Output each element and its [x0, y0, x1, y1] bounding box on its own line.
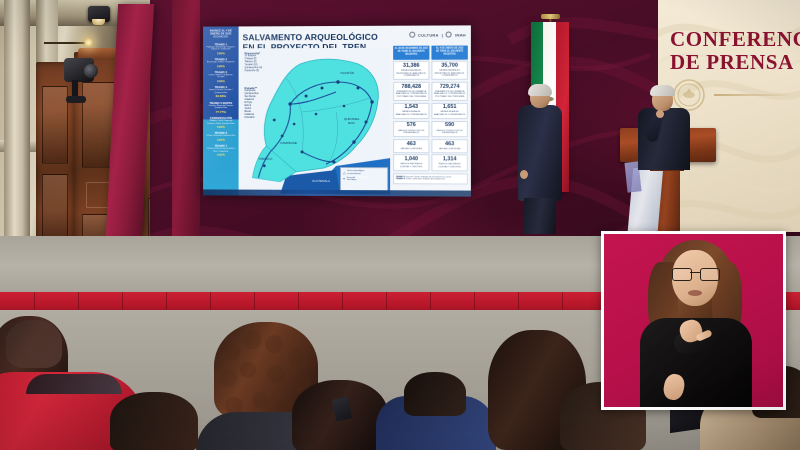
- logo-separator: |: [442, 32, 443, 37]
- suit-jacket: [638, 108, 690, 170]
- stat-value: 1,543: [395, 105, 427, 110]
- stat-value: 31,386: [395, 64, 427, 70]
- sidebar-item-tramo-1: TRAMO 1 Palenque–Escárcega Chiapas / Tab…: [205, 42, 237, 55]
- hair: [528, 84, 552, 96]
- sidebar-item-tramo-2: TRAMO 2 Escárcega–Calkiní Campeche 100%: [205, 57, 237, 68]
- sidebar-item-tramo-4: TRAMO 4 Izamal–Cancún Yucatán / Quintana…: [205, 85, 237, 98]
- stat-row-rasgos-osteologicos: 576 RASGOS OSTEOLÓGICOS PRESERVADOS 590 …: [393, 121, 468, 138]
- tramo-percent: 77.77%: [205, 110, 237, 114]
- hand: [656, 110, 664, 118]
- stat-cell-right: 463 VASIJAS COMPLETAS: [431, 139, 467, 153]
- map-legend-estado: Estado** Campeche Quintana Roo San Benit…: [245, 86, 285, 120]
- tramo-detail: Escárcega–Calkiní Campeche: [205, 61, 237, 64]
- presentation-slide: AVANCE AL 4 DE ENERO DE 2023 EXCAVACIÓN …: [203, 25, 471, 196]
- tramo-percent: 100%: [205, 64, 237, 68]
- overcoat: [518, 105, 562, 201]
- tramo-detail: TRAMO 5 SUR Playa del Carmen–Tulum Quint…: [205, 120, 237, 125]
- stat-caption: VASIJAS COMPLETAS: [433, 148, 465, 151]
- stat-cell-left: 463 VASIJAS COMPLETAS: [393, 139, 429, 153]
- tramo-percent: 100%: [205, 79, 237, 83]
- trousers: [524, 198, 556, 234]
- stage-spotlight-icon: [88, 6, 110, 22]
- wall-lamp-icon: [84, 38, 93, 47]
- audience-member-hood: [6, 320, 62, 368]
- hair: [650, 85, 675, 96]
- legend-a-lines: 32 Estados Chiapas (8) Tabasco (5) Yucat…: [245, 55, 285, 73]
- tramo-detail: Palenque–Escárcega Chiapas / Tabasco / C…: [205, 46, 237, 51]
- speaker-at-podium: [636, 88, 692, 192]
- warning-triangle-icon: △: [343, 171, 346, 175]
- stats-header-jan: AL 4 DE ENERO DE 2023 SE TIENE EL SIGUIE…: [431, 46, 467, 60]
- slide-progress-sidebar: AVANCE AL 4 DE ENERO DE 2023 EXCAVACIÓN …: [203, 26, 239, 195]
- slide-logos: CULTURA | INAH: [409, 31, 466, 37]
- route-icon: ━: [343, 177, 345, 181]
- sidebar-item-tramo-6: TRAMO 6 Tulum–Chetumal Quintana Roo 100%: [205, 131, 237, 142]
- svg-text:ROO: ROO: [348, 121, 355, 125]
- tramo-detail: Tulum–Chetumal Quintana Roo: [205, 135, 237, 138]
- sidebar-header: AVANCE AL 4 DE ENERO DE 2023: [205, 29, 237, 36]
- legend-text: Trazo del Tren Maya: [347, 177, 357, 182]
- tramo-percent: 100%: [205, 153, 237, 157]
- stat-value: 463: [433, 142, 465, 147]
- yucatan-peninsula-map: YUCATÁN CAMPECHE QUINTANA ROO TABASCO GU…: [241, 48, 391, 194]
- flag-finial: [541, 14, 560, 19]
- cultura-logo-label: CULTURA: [418, 32, 439, 37]
- stat-value: 1,314: [433, 157, 465, 163]
- tramo-detail: Calkiní–Izamal Campeche / Yucatán: [205, 74, 237, 79]
- stat-value: 1,651: [433, 105, 465, 110]
- legend-row: ━ Trazo del Tren Maya: [343, 177, 385, 182]
- stat-caption: VASIJAS COMPLETAS: [395, 148, 427, 151]
- stat-value: 35,700: [433, 63, 465, 69]
- sidebar-item-conservacion: CONSERVACIÓN TRAMO 5 SUR Playa del Carme…: [205, 116, 237, 129]
- stat-value: 463: [395, 142, 427, 147]
- pilaster-left: [4, 0, 30, 250]
- map-legend-presencia: Presencia* 32 Estados Chiapas (8) Tabasc…: [245, 51, 285, 73]
- stat-caption: RASGOS NATURALES (CUEVAS Y CENOTES): [395, 163, 427, 168]
- stat-cell-right: 1,651 BIENES MUEBLES ANALIZADOS Y PRESER…: [431, 103, 467, 120]
- sidebar-subheader: EXCAVACIÓN: [205, 37, 237, 40]
- sidebar-item-tramo-7: TRAMO 7 Chetumal–Escárcega Quintana Roo …: [205, 144, 237, 157]
- stat-value: 729,274: [433, 84, 465, 89]
- tramo-percent: 100%: [205, 138, 237, 142]
- stat-value: 1,040: [395, 157, 427, 163]
- footnote-tramo-6: TRAMO 6 Tulum–Chetumal, trabajos de pros…: [396, 179, 465, 182]
- inah-logo-icon: [446, 31, 452, 37]
- tramo-detail: Izamal–Cancún Yucatán / Quintana Roo: [205, 89, 237, 94]
- press-conference-screenshot: CONFERENCIA DE PRENSA AVANCE AL 4 DE ENE…: [0, 0, 800, 450]
- broadcast-camera-icon: [58, 52, 102, 94]
- stat-cell-right: 1,314 RASGOS NATURALES (CUEVAS Y CENOTES…: [431, 155, 467, 172]
- interpreter-mouth: [688, 290, 702, 296]
- stat-row-bienes-muebles: 1,543 BIENES MUEBLES ANALIZADOS Y PRESER…: [393, 103, 468, 120]
- audience-member-head: [110, 392, 198, 450]
- stat-cell-right: 590 RASGOS OSTEOLÓGICOS PRESERVADOS: [431, 121, 467, 138]
- stat-caption: BIENES INMUEBLES REGISTRADOS, ANALIZADOS…: [395, 70, 427, 78]
- stat-caption: RASGOS NATURALES (CUEVAS Y CENOTES): [433, 164, 465, 169]
- cultura-logo-icon: [409, 32, 415, 38]
- stat-caption: BIENES MUEBLES ANALIZADOS Y PRESERVADOS: [395, 111, 427, 116]
- svg-text:GUATEMALA: GUATEMALA: [312, 179, 330, 183]
- tramo-detail: Chetumal–Escárcega Quintana Roo / Campec…: [205, 148, 237, 153]
- stat-value: 576: [395, 123, 427, 128]
- stat-caption: BIENES INMUEBLES REGISTRADOS, ANALIZADOS…: [433, 70, 465, 78]
- tramo-detail: Cancún–Playa del Carmen Quintana Roo: [205, 105, 237, 110]
- stat-row-rasgos-naturales: 1,040 RASGOS NATURALES (CUEVAS Y CENOTES…: [393, 155, 468, 172]
- backdrop-left-red-panel: [172, 0, 200, 242]
- sign-language-interpreter-inset: [601, 231, 786, 410]
- stats-column-headers: AL 28 DE DICIEMBRE DE 2022 SE TIENE EL S…: [393, 46, 468, 60]
- stat-row-fragmentos-ceramica: 788,428 FRAGMENTOS DE CERÁMICA ANALIZADO…: [393, 82, 468, 101]
- stat-caption: RASGOS OSTEOLÓGICOS PRESERVADOS: [395, 130, 427, 135]
- banner-title: CONFERENCIA DE PRENSA: [670, 28, 800, 73]
- stat-row-bienes-inmuebles: 31,386 BIENES INMUEBLES REGISTRADOS, ANA…: [393, 61, 468, 80]
- slide-statistics-panel: AL 28 DE DICIEMBRE DE 2022 SE TIENE EL S…: [393, 46, 468, 185]
- banner-title-line1: CONFERENCIA: [670, 28, 800, 51]
- stat-cell-left: 576 RASGOS OSTEOLÓGICOS PRESERVADOS: [393, 121, 429, 138]
- audience-member-collar: [26, 374, 122, 394]
- tramo-percent: 100%: [205, 51, 237, 55]
- official-standing: [512, 86, 570, 232]
- hand: [520, 170, 528, 179]
- sidebar-item-tramo-3: TRAMO 3 Calkiní–Izamal Campeche / Yucatá…: [205, 70, 237, 83]
- legend-b-lines: Campeche Quintana Roo San Benito Calakmu…: [245, 90, 285, 120]
- stat-value: 590: [433, 123, 465, 128]
- door-panel: [42, 86, 68, 164]
- slide-footer-bar: [203, 189, 471, 196]
- stat-cell-right: 729,274 FRAGMENTOS DE CERÁMICA ANALIZADO…: [431, 82, 467, 101]
- svg-text:CAMPECHE: CAMPECHE: [280, 141, 297, 145]
- stat-caption: FRAGMENTOS DE CERÁMICA ANALIZADOS Y PRES…: [395, 91, 427, 99]
- svg-text:TABASCO: TABASCO: [258, 157, 273, 161]
- stat-value: 788,428: [395, 84, 427, 89]
- banner-title-line2: DE PRENSA: [670, 51, 800, 74]
- projection-screen: AVANCE AL 4 DE ENERO DE 2023 EXCAVACIÓN …: [203, 25, 471, 196]
- stat-cell-left: 1,040 RASGOS NATURALES (CUEVAS Y CENOTES…: [393, 155, 429, 172]
- inah-logo-label: INAH: [455, 32, 466, 37]
- interpreter-video-feed: [604, 234, 783, 407]
- audience-member-head: [404, 372, 466, 416]
- lamp-arm: [44, 42, 88, 44]
- glasses-icon: [672, 268, 718, 279]
- stat-cell-left: 31,386 BIENES INMUEBLES REGISTRADOS, ANA…: [393, 61, 429, 80]
- legend-row: △ Zona arqueológica en salvamento: [343, 170, 385, 175]
- stat-cell-right: 35,700 BIENES INMUEBLES REGISTRADOS, ANA…: [431, 61, 467, 80]
- svg-text:YUCATÁN: YUCATÁN: [340, 71, 354, 75]
- footnote-label: TRAMO 6: [396, 179, 405, 181]
- banner-rule: [714, 94, 794, 96]
- stat-caption: RASGOS OSTEOLÓGICOS PRESERVADOS: [433, 130, 465, 135]
- stat-cell-left: 1,543 BIENES MUEBLES ANALIZADOS Y PRESER…: [393, 103, 429, 120]
- stats-header-dec: AL 28 DE DICIEMBRE DE 2022 SE TIENE EL S…: [393, 46, 429, 60]
- footnote-text: Tulum–Chetumal, trabajos de prospección: [406, 179, 445, 181]
- stats-footnotes: TRAMO 5 Cancún–Tulum, trabajos de excava…: [393, 173, 468, 184]
- sidebar-item-tramo-5-norte: TRAMO 5 NORTE Cancún–Playa del Carmen Qu…: [205, 101, 237, 114]
- stat-row-vasijas-completas: 463 VASIJAS COMPLETAS 463 VASIJAS COMPLE…: [393, 139, 468, 153]
- stat-caption: FRAGMENTOS DE CERÁMICA ANALIZADOS Y PRES…: [433, 91, 465, 99]
- map-symbol-legend: △ Zona arqueológica en salvamento ━ Traz…: [340, 167, 388, 191]
- stat-cell-left: 788,428 FRAGMENTOS DE CERÁMICA ANALIZADO…: [393, 82, 429, 101]
- legend-text: Zona arqueológica en salvamento: [347, 170, 364, 175]
- stat-caption: BIENES MUEBLES ANALIZADOS Y PRESERVADOS: [433, 111, 465, 116]
- tramo-percent: 100%: [205, 125, 237, 129]
- tramo-percent: 82.88%: [205, 95, 237, 99]
